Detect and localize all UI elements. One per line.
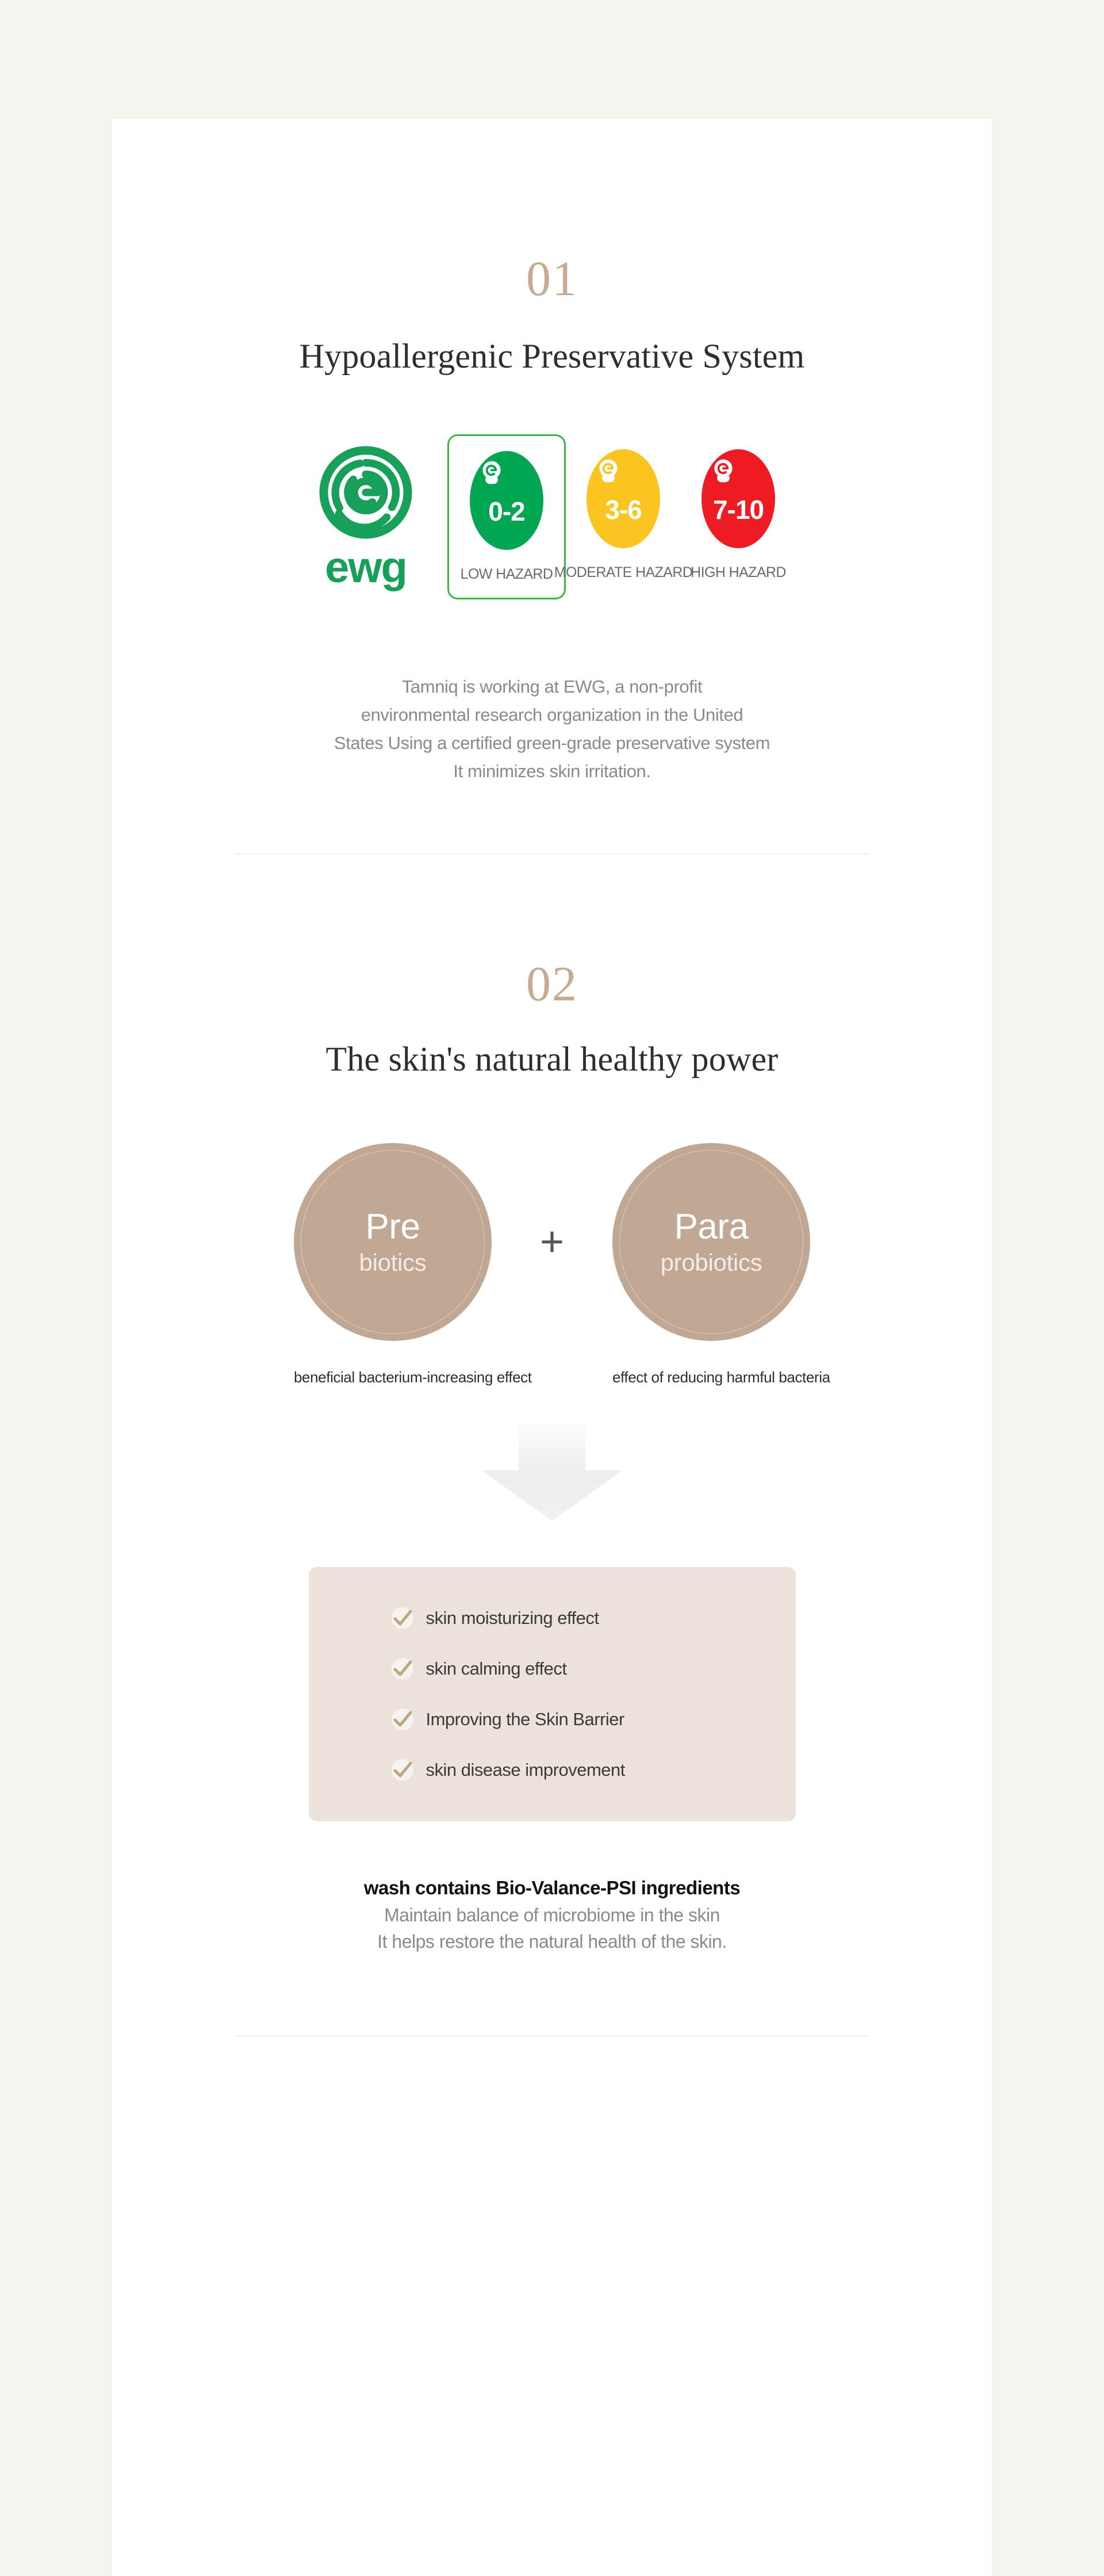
benefit-item: Improving the Skin Barrier: [389, 1706, 624, 1733]
body-line: It minimizes skin irritation.: [112, 758, 992, 786]
content-card: 01 Hypoallergenic Preservative System: [112, 119, 992, 2576]
biotic-sub-label: biotics: [359, 1251, 427, 1275]
closing-headline: wash contains Bio-Valance-PSI ingredient…: [112, 1874, 992, 1902]
check-icon: [389, 1706, 416, 1733]
closing-copy: wash contains Bio-Valance-PSI ingredient…: [112, 1874, 992, 1955]
section-title: The skin's natural healthy power: [112, 1038, 992, 1080]
biotics-diagram: Pre biotics + Para probiotics: [112, 1143, 992, 1341]
check-icon: [389, 1605, 416, 1631]
hazard-item-low[interactable]: 0-2 LOW HAZARD: [447, 434, 566, 599]
hazard-item-moderate[interactable]: 3-6 MODERATE HAZARD: [566, 434, 681, 596]
closing-line: It helps restore the natural health of t…: [112, 1928, 992, 1955]
section-hypoallergenic-preservative-system: 01 Hypoallergenic Preservative System: [112, 119, 992, 854]
check-icon: [389, 1757, 416, 1783]
section-number: 01: [112, 254, 992, 303]
benefits-list: skin moisturizing effect skin calming ef…: [309, 1567, 796, 1821]
section-number: 02: [112, 959, 992, 1008]
bottom-divider: [236, 2036, 868, 2036]
check-icon: [389, 1656, 416, 1682]
down-arrow-icon: [466, 1421, 638, 1524]
hazard-label-moderate: MODERATE HAZARD: [554, 564, 693, 581]
hazard-pill-moderate: 3-6: [586, 449, 660, 548]
body-line: environmental research organization in t…: [112, 701, 992, 729]
section-01-body: Tamniq is working at EWG, a non-profit e…: [112, 673, 992, 786]
benefit-text: skin disease improvement: [426, 1760, 625, 1780]
ewg-mini-mark-icon: [478, 459, 505, 487]
body-line: Tamniq is working at EWG, a non-profit: [112, 673, 992, 701]
biotic-main-label: Pre: [366, 1209, 420, 1245]
hazard-score-high: 7-10: [713, 494, 764, 525]
closing-line: Maintain balance of microbiome in the sk…: [112, 1902, 992, 1928]
ewg-logo: ewg: [308, 434, 423, 587]
page-root: 01 Hypoallergenic Preservative System: [0, 0, 1104, 2576]
biotic-circle-paraprobiotics: Para probiotics: [612, 1143, 810, 1341]
body-line: States Using a certified green-grade pre…: [112, 729, 992, 758]
hazard-pill-low: 0-2: [470, 451, 543, 550]
hazard-label-high: HIGH HAZARD: [691, 564, 786, 581]
plus-operator-icon: +: [492, 1221, 612, 1263]
biotic-sub-label: probiotics: [661, 1251, 762, 1275]
benefit-text: skin calming effect: [426, 1658, 567, 1679]
arrow-container: [112, 1421, 992, 1524]
ewg-spiral-mark-icon: [318, 445, 413, 540]
hazard-item-high[interactable]: 7-10 HIGH HAZARD: [681, 434, 796, 596]
section-title: Hypoallergenic Preservative System: [112, 335, 992, 377]
ewg-wordmark: ewg: [325, 548, 407, 587]
hazard-label-low: LOW HAZARD: [461, 566, 553, 583]
benefit-item: skin moisturizing effect: [389, 1605, 599, 1631]
ewg-mini-mark-icon: [710, 457, 737, 485]
section-skins-natural-healthy-power: 02 The skin's natural healthy power Pre …: [112, 854, 992, 2036]
ewg-mini-mark-icon: [595, 457, 622, 485]
hazard-pill-high: 7-10: [701, 449, 775, 548]
biotic-caption-paraprobiotics: effect of reducing harmful bacteria: [612, 1369, 810, 1386]
hazard-score-low: 0-2: [488, 496, 524, 527]
benefit-text: Improving the Skin Barrier: [426, 1709, 624, 1730]
biotic-main-label: Para: [674, 1209, 749, 1245]
benefit-item: skin disease improvement: [389, 1757, 625, 1783]
benefit-text: skin moisturizing effect: [426, 1608, 599, 1629]
biotic-circle-prebiotics: Pre biotics: [294, 1143, 492, 1341]
hazard-score-moderate: 3-6: [605, 494, 641, 525]
biotics-captions: beneficial bacterium-increasing effect e…: [112, 1369, 992, 1386]
biotic-caption-prebiotics: beneficial bacterium-increasing effect: [294, 1369, 492, 1386]
benefit-item: skin calming effect: [389, 1656, 567, 1682]
ewg-hazard-scale: ewg 0-2 LOW HAZARD: [112, 434, 992, 599]
